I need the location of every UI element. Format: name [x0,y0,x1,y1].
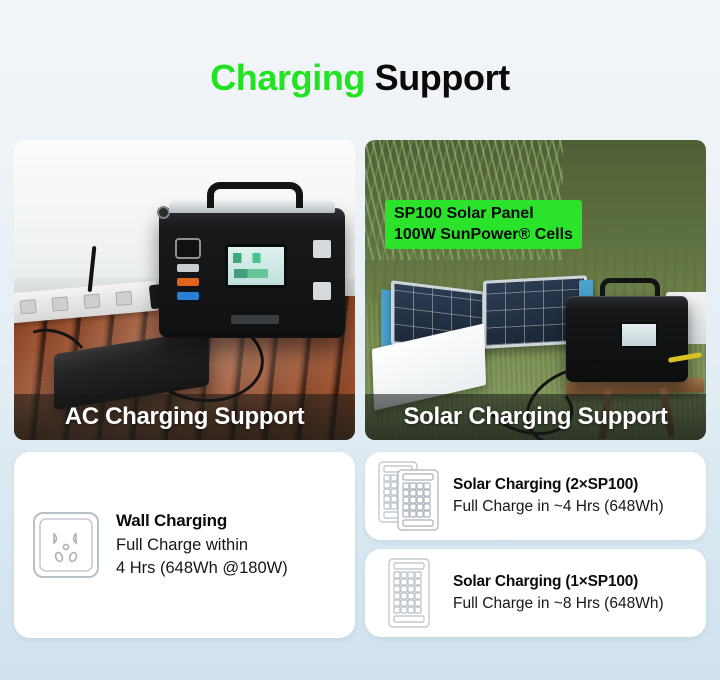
wall-charging-heading: Wall Charging [116,509,288,534]
wall-socket-icon [30,509,102,581]
dc-outlet-orange [177,278,199,286]
usb-outlet-blue [177,292,199,300]
solar-charging-1x-heading: Solar Charging (1×SP100) [453,571,664,593]
device-label-plate [231,315,279,324]
power-station-device [159,208,345,338]
input-port [177,240,199,257]
single-solar-panel-icon [377,556,441,630]
wall-charging-line-1: Full Charge within [116,534,288,557]
double-solar-panel-icon [377,459,441,533]
photo-row: AC Charging Support [14,140,706,440]
page-title-rest: Support [365,57,510,98]
right-port-upper [313,240,331,258]
solar-charging-1x-card: Solar Charging (1×SP100) Full Charge in … [365,549,706,637]
ac-charging-caption: AC Charging Support [14,394,355,440]
wall-charging-card: Wall Charging Full Charge within 4 Hrs (… [14,452,355,638]
ac-outlet [177,264,199,272]
solar-charging-2x-card: Solar Charging (2×SP100) Full Charge in … [365,452,706,540]
carry-handle [207,182,303,208]
solar-charging-2x-heading: Solar Charging (2×SP100) [453,474,664,496]
solar-panel-callout: SP100 Solar Panel 100W SunPower® Cells [385,200,582,249]
solar-charging-2x-text: Solar Charging (2×SP100) Full Charge in … [453,474,664,518]
device-display [620,322,658,348]
solar-charging-1x-text: Solar Charging (1×SP100) Full Charge in … [453,571,664,615]
page-title: Charging Support [0,0,720,98]
solar-charging-2x-line-1: Full Charge in ~4 Hrs (648Wh) [453,496,664,518]
wall-charging-line-2: 4 Hrs (648Wh @180W) [116,557,288,580]
device-display [225,244,287,288]
callout-line-1: SP100 Solar Panel [394,203,573,224]
right-port-lower [313,282,331,300]
solar-charging-1x-line-1: Full Charge in ~8 Hrs (648Wh) [453,593,664,615]
carry-handle [600,278,660,296]
power-knob [159,208,168,217]
ac-charging-photo: AC Charging Support [14,140,355,440]
charging-support-page: Charging Support [0,0,720,680]
solar-charging-caption: Solar Charging Support [365,394,706,440]
solar-card-column: Solar Charging (2×SP100) Full Charge in … [365,452,706,638]
wall-charging-text: Wall Charging Full Charge within 4 Hrs (… [116,509,288,580]
callout-line-2: 100W SunPower® Cells [394,224,573,245]
solar-charging-photo: SP100 Solar Panel 100W SunPower® Cells S… [365,140,706,440]
page-title-highlight: Charging [210,57,365,98]
info-card-row: Wall Charging Full Charge within 4 Hrs (… [14,452,706,638]
